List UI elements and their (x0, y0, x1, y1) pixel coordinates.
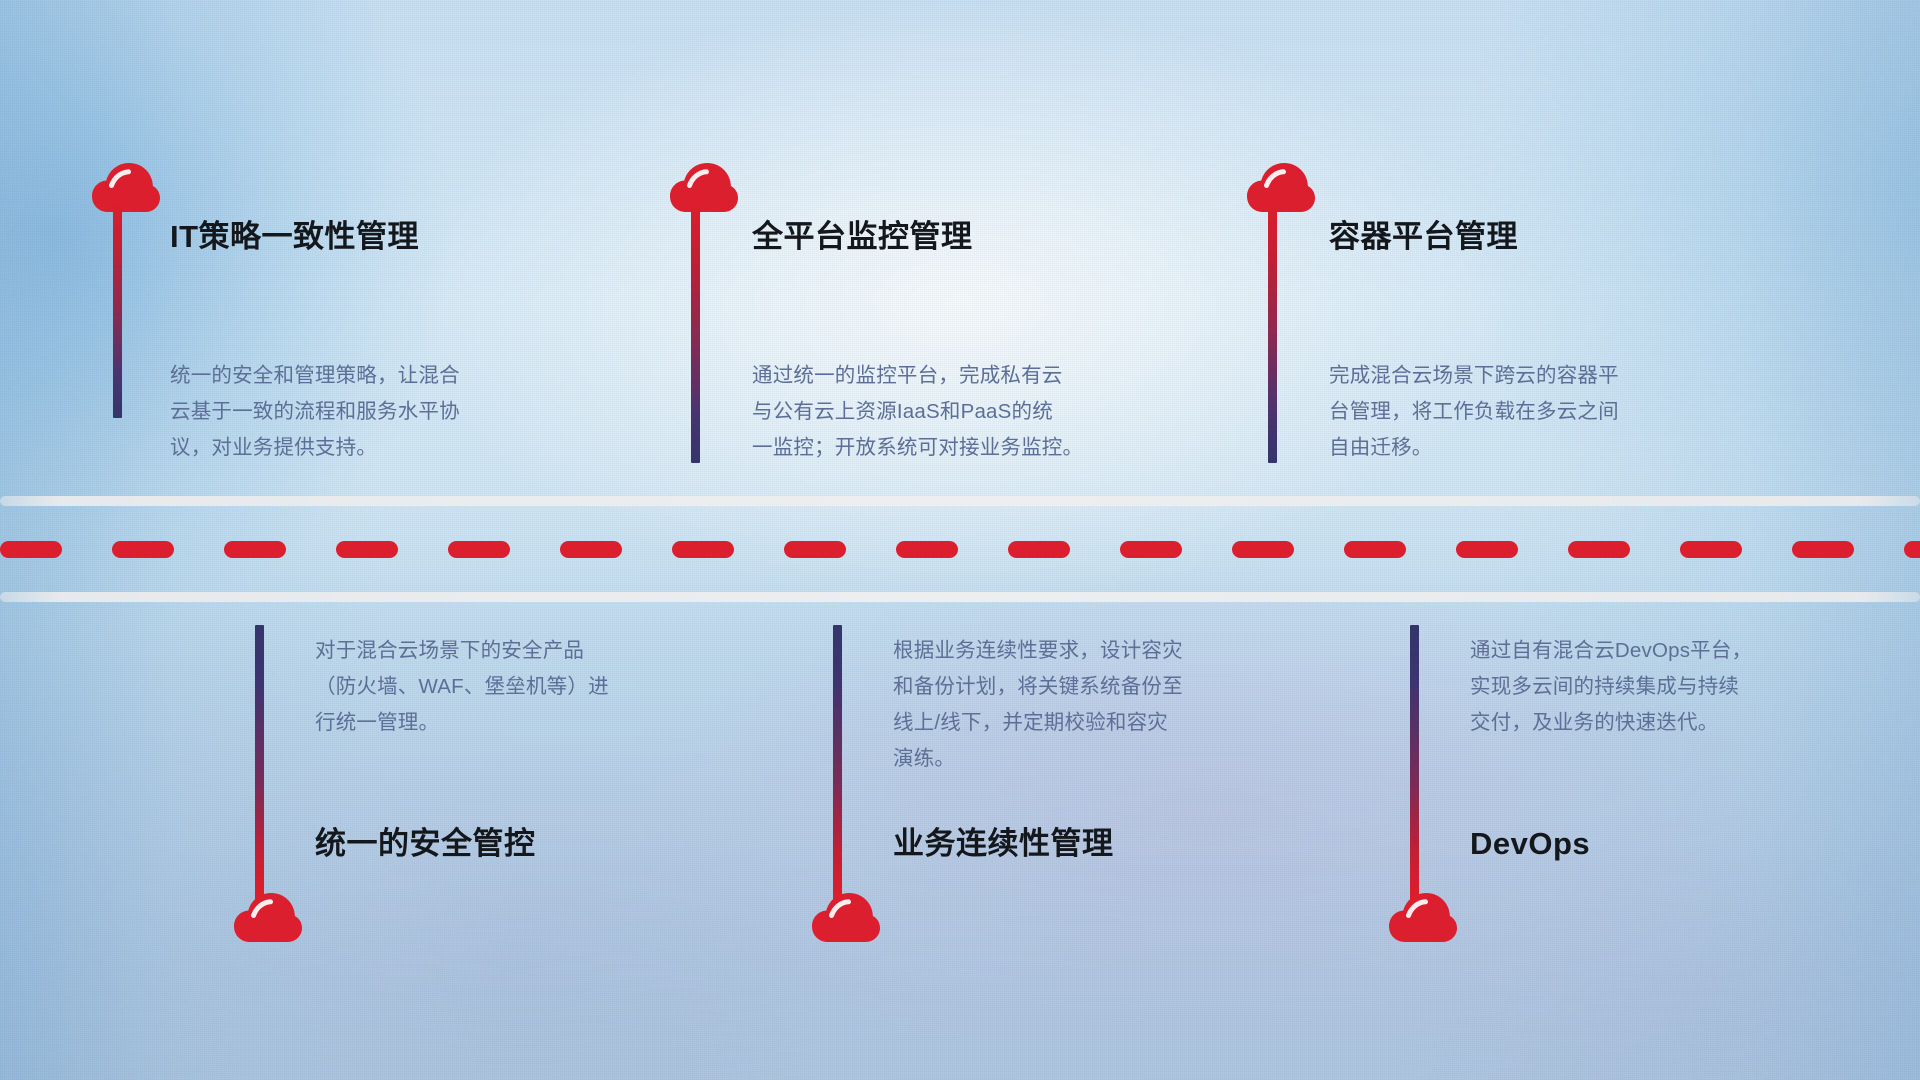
top-column-1-body: 统一的安全和管理策略，让混合 云基于一致的流程和服务水平协 议，对业务提供支持。 (170, 358, 600, 466)
cloud-icon (234, 892, 302, 944)
cloud-icon (1247, 162, 1315, 214)
divider-dash (1008, 541, 1070, 558)
divider-dash (1232, 541, 1294, 558)
connector-stem (1410, 625, 1419, 900)
divider-dash (1792, 541, 1854, 558)
divider-rail-bottom (0, 592, 1920, 602)
divider-dash (1568, 541, 1630, 558)
bottom-column-3-title: DevOps (1470, 825, 1590, 862)
cloud-icon (812, 892, 880, 944)
divider-rail-top (0, 496, 1920, 506)
divider-dash (1904, 541, 1920, 558)
divider-dash (1680, 541, 1742, 558)
divider-dash (224, 541, 286, 558)
divider-dash (784, 541, 846, 558)
bottom-column-2-title: 业务连续性管理 (893, 825, 1114, 862)
cloud-icon (92, 162, 160, 214)
bottom-column-3-body: 通过自有混合云DevOps平台， 实现多云间的持续集成与持续 交付，及业务的快速… (1470, 633, 1900, 741)
bottom-column-2-body: 根据业务连续性要求，设计容灾 和备份计划，将关键系统备份至 线上/线下，并定期校… (893, 633, 1333, 777)
cloud-icon (670, 162, 738, 214)
connector-stem (833, 625, 842, 900)
cloud-icon (1389, 892, 1457, 944)
divider-dashed-line (0, 541, 1920, 558)
connector-stem (255, 625, 264, 900)
divider-dash (1344, 541, 1406, 558)
divider-dash (560, 541, 622, 558)
infographic-canvas: IT策略一致性管理 统一的安全和管理策略，让混合 云基于一致的流程和服务水平协 … (0, 0, 1920, 1080)
divider-dash (336, 541, 398, 558)
divider-dash (896, 541, 958, 558)
divider-dash (448, 541, 510, 558)
divider-dash (672, 541, 734, 558)
divider-dash (0, 541, 62, 558)
top-column-1-title: IT策略一致性管理 (170, 218, 419, 255)
divider-dash (112, 541, 174, 558)
divider-dash (1456, 541, 1518, 558)
top-column-3-title: 容器平台管理 (1329, 218, 1518, 255)
bottom-column-1-title: 统一的安全管控 (315, 825, 536, 862)
top-column-2-body: 通过统一的监控平台，完成私有云 与公有云上资源IaaS和PaaS的统 一监控；开… (752, 358, 1202, 466)
top-column-3-body: 完成混合云场景下跨云的容器平 台管理，将工作负载在多云之间 自由迁移。 (1329, 358, 1759, 466)
bottom-column-1-body: 对于混合云场景下的安全产品 （防火墙、WAF、堡垒机等）进 行统一管理。 (315, 633, 745, 741)
connector-stem (691, 198, 700, 463)
top-column-2-title: 全平台监控管理 (752, 218, 973, 255)
connector-stem (1268, 198, 1277, 463)
divider-dash (1120, 541, 1182, 558)
connector-stem (113, 198, 122, 418)
